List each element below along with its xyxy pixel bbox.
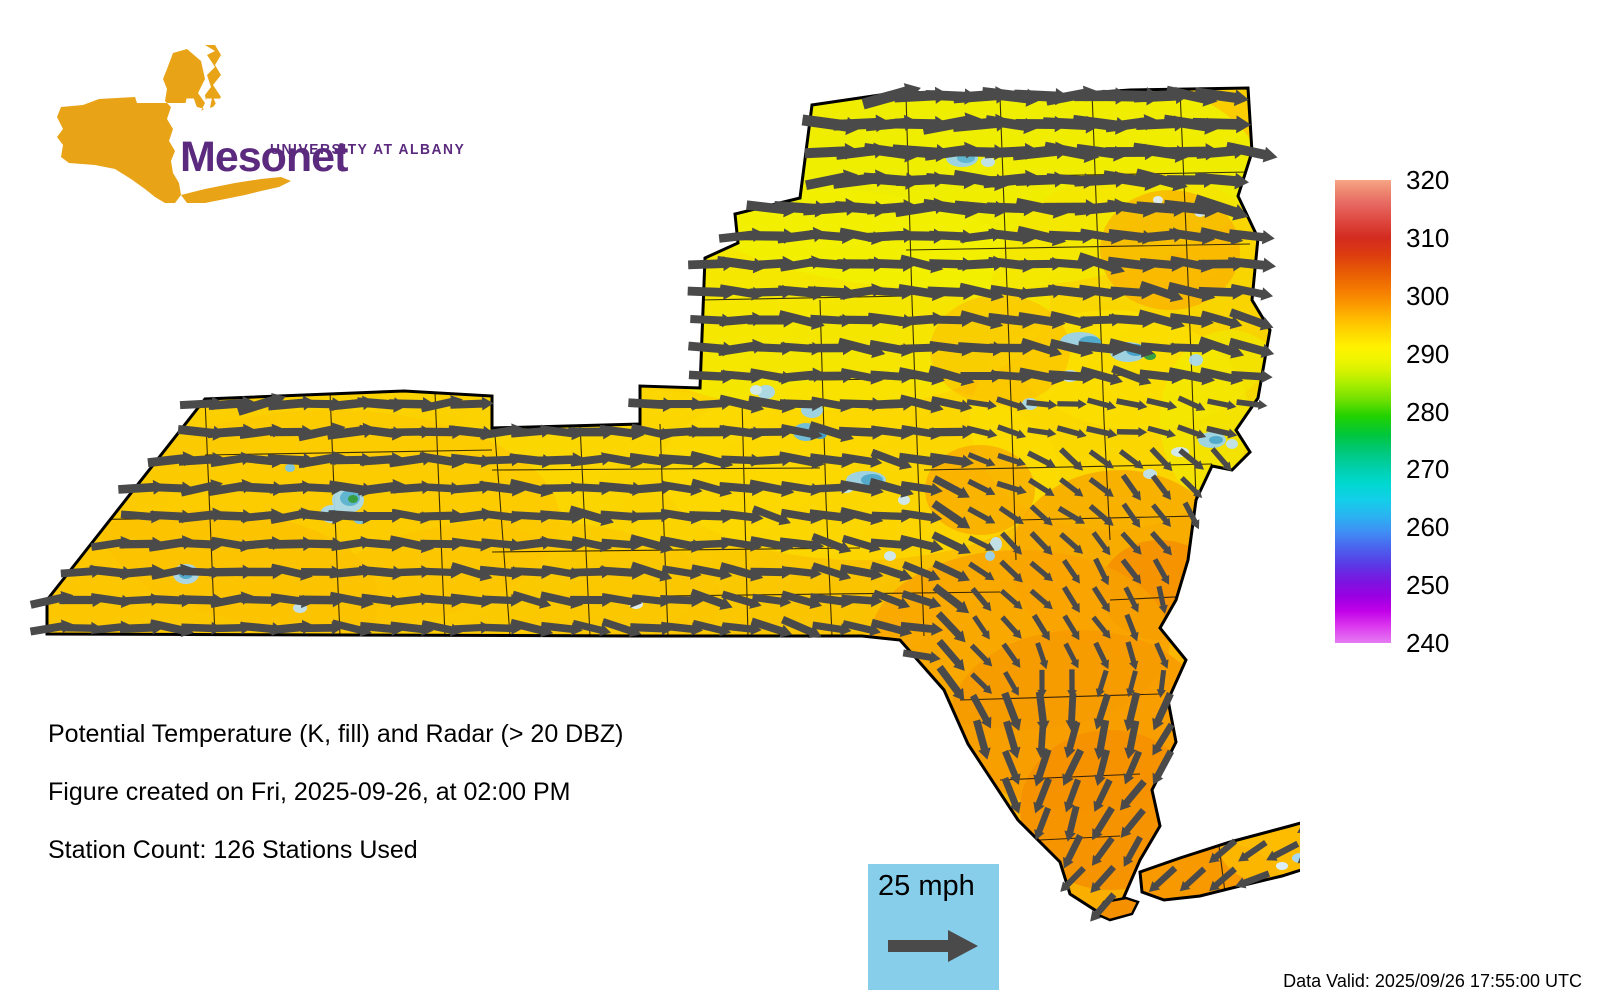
colorbar-tick-250: 250: [1406, 572, 1449, 598]
caption-block: Potential Temperature (K, fill) and Rada…: [48, 720, 624, 894]
colorbar-tick-270: 270: [1406, 456, 1449, 482]
colorbar-tick-290: 290: [1406, 341, 1449, 367]
wind-arrow-icon: [886, 926, 982, 966]
logo-nys-text: NYS: [180, 93, 265, 136]
colorbar-tick-310: 310: [1406, 225, 1449, 251]
colorbar-gradient: [1335, 180, 1391, 643]
caption-title: Potential Temperature (K, fill) and Rada…: [48, 720, 624, 749]
wind-legend-label: 25 mph: [878, 870, 975, 903]
colorbar-tick-240: 240: [1406, 630, 1449, 656]
caption-created: Figure created on Fri, 2025-09-26, at 02…: [48, 778, 624, 807]
colorbar-tick-300: 300: [1406, 283, 1449, 309]
nys-mesonet-logo: NYSMesonet UNIVERSITY AT ALBANY: [55, 45, 400, 205]
caption-station-count: Station Count: 126 Stations Used: [48, 836, 624, 865]
data-valid-timestamp: Data Valid: 2025/09/26 17:55:00 UTC: [1283, 971, 1582, 992]
colorbar-tick-320: 320: [1406, 167, 1449, 193]
colorbar: [1335, 180, 1391, 643]
wind-scale-legend: 25 mph: [868, 864, 999, 990]
logo-subtitle: UNIVERSITY AT ALBANY: [270, 141, 465, 158]
colorbar-tick-260: 260: [1406, 514, 1449, 540]
logo-wordmark: NYSMesonet: [180, 93, 400, 179]
colorbar-tick-labels: 320310300290280270260250240: [1406, 160, 1526, 670]
colorbar-tick-280: 280: [1406, 399, 1449, 425]
